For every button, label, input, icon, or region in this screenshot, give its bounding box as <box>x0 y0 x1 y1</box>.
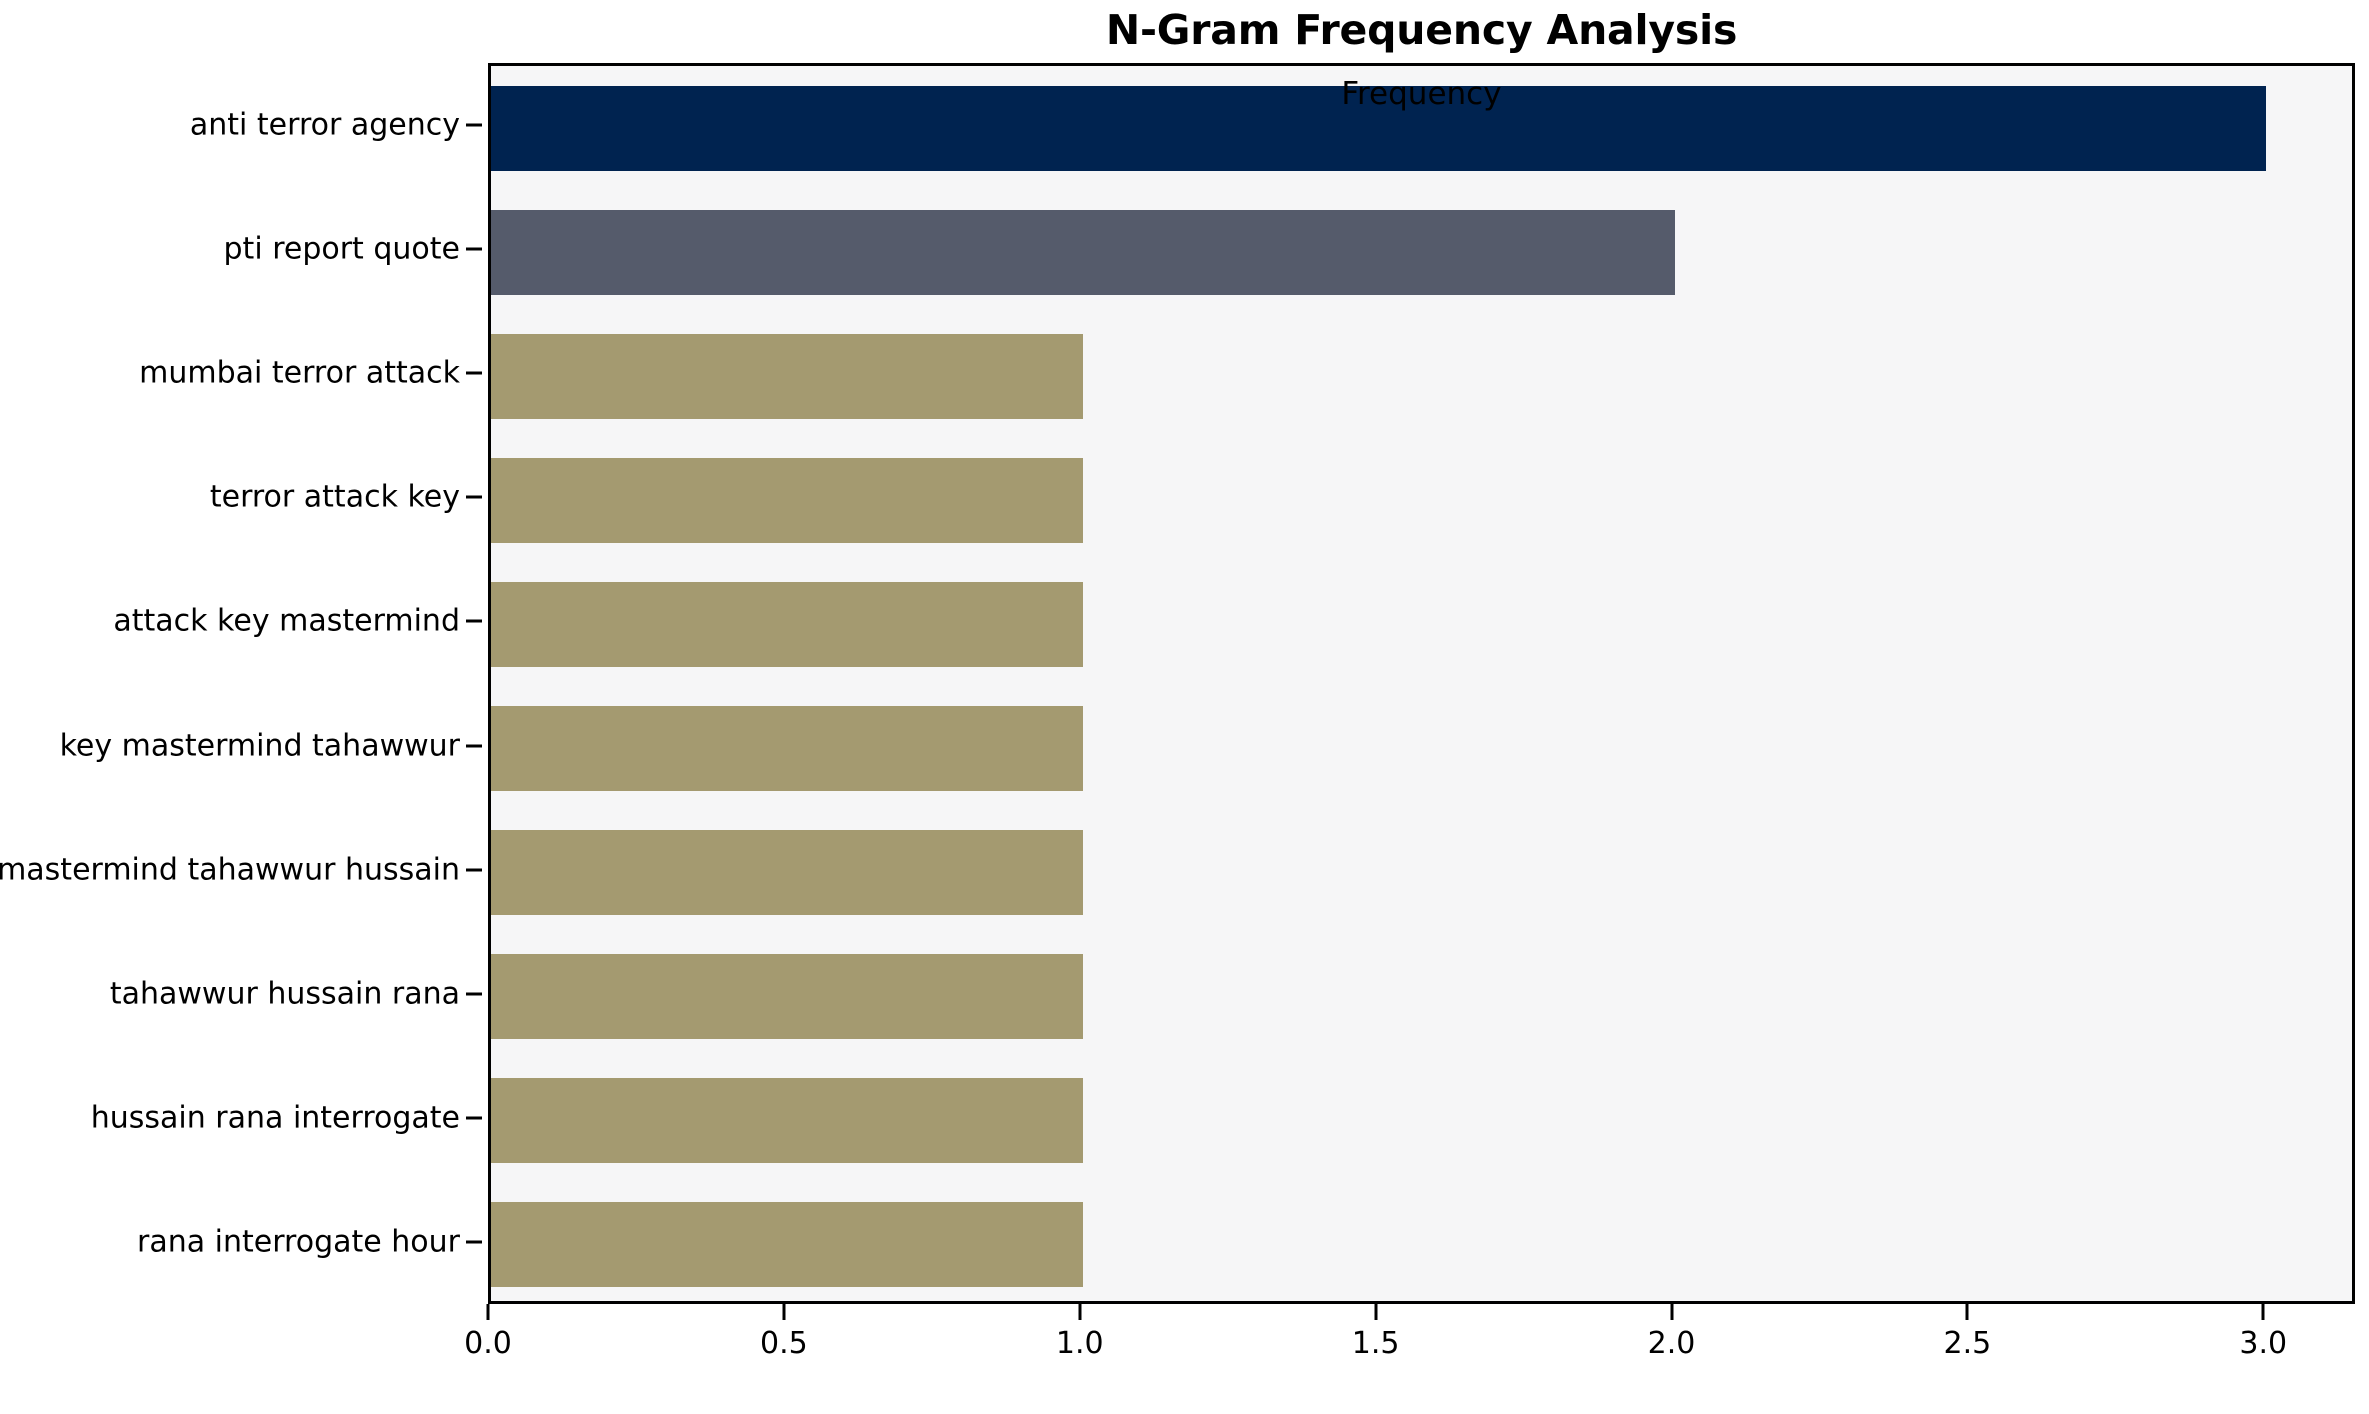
y-tick-mark <box>466 868 482 871</box>
x-tick-mark <box>487 1304 490 1320</box>
x-tick-mark <box>1374 1304 1377 1320</box>
y-tick-label: anti terror agency <box>190 108 460 143</box>
x-tick-mark <box>1078 1304 1081 1320</box>
plot-area <box>488 63 2355 1304</box>
x-tick-mark <box>1966 1304 1969 1320</box>
y-tick-mark <box>466 992 482 995</box>
bar <box>491 954 1083 1039</box>
y-tick-label: mumbai terror attack <box>139 356 460 391</box>
x-tick-label: 2.0 <box>1648 1326 1696 1361</box>
bar <box>491 1202 1083 1287</box>
x-tick-label: 1.5 <box>1352 1326 1400 1361</box>
x-tick-label: 2.5 <box>1944 1326 1992 1361</box>
y-tick-mark <box>466 1240 482 1243</box>
y-tick-label: rana interrogate hour <box>137 1224 460 1259</box>
x-tick-mark <box>2262 1304 2265 1320</box>
chart-title: N-Gram Frequency Analysis <box>488 6 2355 54</box>
x-tick-mark <box>782 1304 785 1320</box>
x-tick-label: 0.5 <box>760 1326 808 1361</box>
y-tick-mark <box>466 744 482 747</box>
x-tick-label: 0.0 <box>464 1326 512 1361</box>
bars-layer <box>491 66 2352 1301</box>
y-tick-label: pti report quote <box>224 232 460 267</box>
x-tick-label: 3.0 <box>2239 1326 2287 1361</box>
bar <box>491 1078 1083 1163</box>
bar <box>491 830 1083 915</box>
x-axis-title: Frequency <box>488 76 2355 112</box>
x-tick-mark <box>1670 1304 1673 1320</box>
y-tick-mark <box>466 496 482 499</box>
y-tick-label: key mastermind tahawwur <box>60 728 460 763</box>
bar <box>491 706 1083 791</box>
y-tick-mark <box>466 372 482 375</box>
y-tick-mark <box>466 620 482 623</box>
bar <box>491 458 1083 543</box>
y-tick-label: attack key mastermind <box>113 604 460 639</box>
bar <box>491 210 1675 295</box>
y-tick-label: tahawwur hussain rana <box>110 976 460 1011</box>
figure-canvas: N-Gram Frequency Analysis anti terror ag… <box>0 0 2369 1414</box>
y-axis: anti terror agencypti report quotemumbai… <box>0 63 488 1304</box>
bar <box>491 334 1083 419</box>
x-axis: 0.00.51.01.52.02.53.0 <box>0 1304 2369 1414</box>
y-tick-label: terror attack key <box>210 480 460 515</box>
y-tick-mark <box>466 1116 482 1119</box>
y-tick-label: hussain rana interrogate <box>91 1100 460 1135</box>
y-tick-mark <box>466 124 482 127</box>
bar <box>491 582 1083 667</box>
x-tick-label: 1.0 <box>1056 1326 1104 1361</box>
y-tick-mark <box>466 248 482 251</box>
y-tick-label: mastermind tahawwur hussain <box>0 852 460 887</box>
